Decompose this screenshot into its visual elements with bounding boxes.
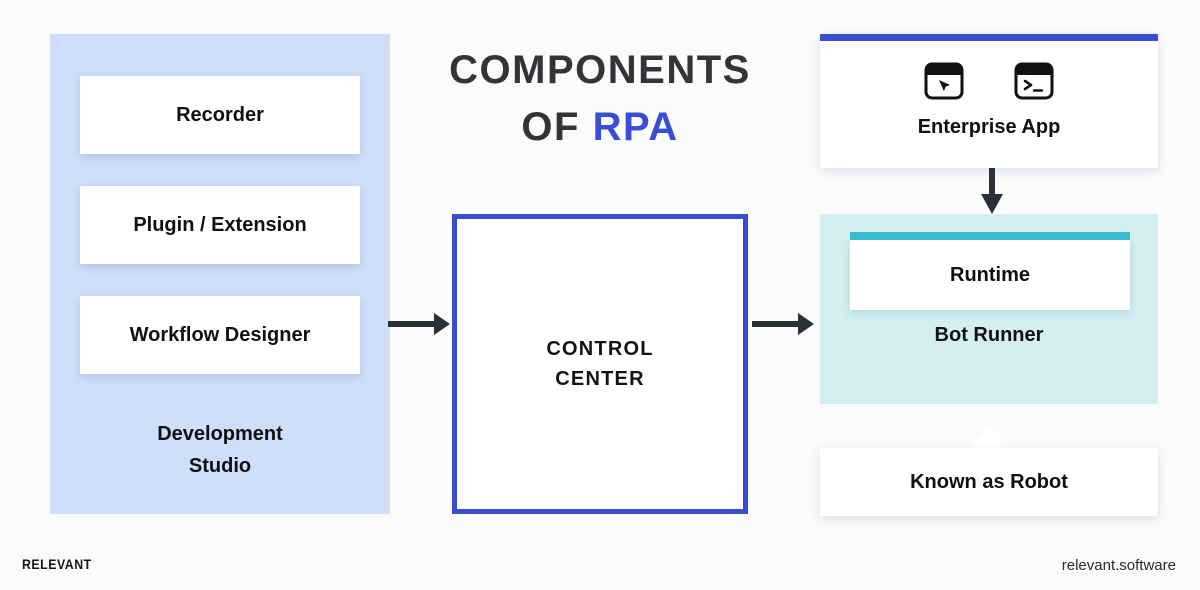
development-studio-caption-line-2: Studio (50, 450, 390, 482)
brand-logo: RELEVANT (22, 556, 92, 572)
website-url: relevant.software (1062, 557, 1176, 574)
enterprise-app-icon-row (820, 62, 1158, 104)
known-as-robot-label: Known as Robot (910, 471, 1068, 494)
development-studio-caption-line-1: Development (50, 418, 390, 450)
control-center-box[interactable]: CONTROL CENTER (452, 214, 748, 514)
arrow-dev-to-control-icon (388, 313, 450, 335)
arrow-head (434, 313, 450, 335)
control-center-text: CONTROL CENTER (546, 334, 653, 394)
arrow-enterprise-to-bot-icon (981, 168, 1003, 214)
arrow-stem (989, 168, 995, 196)
runtime-label: Runtime (950, 264, 1030, 287)
enterprise-app-label: Enterprise App (820, 116, 1158, 139)
dev-box-workflow-designer[interactable]: Workflow Designer (80, 296, 360, 374)
enterprise-app-panel[interactable]: Enterprise App (820, 34, 1158, 168)
arrow-stem (388, 321, 434, 327)
dev-box-workflow-designer-label: Workflow Designer (130, 324, 311, 347)
dev-box-plugin-extension[interactable]: Plugin / Extension (80, 186, 360, 264)
dev-box-recorder[interactable]: Recorder (80, 76, 360, 154)
terminal-window-icon (1012, 62, 1056, 104)
page-title: COMPONENTS OF RPA (400, 42, 800, 156)
control-center-line-2: CENTER (546, 364, 653, 394)
app-window-cursor-icon (922, 62, 966, 104)
bot-runner-panel: Runtime Bot Runner (820, 214, 1158, 404)
bot-runner-caption: Bot Runner (820, 324, 1158, 347)
title-line-2-prefix: OF (521, 105, 592, 149)
known-as-robot-callout[interactable]: Known as Robot (820, 448, 1158, 516)
diagram-canvas: COMPONENTS OF RPA Recorder Plugin / Exte… (0, 0, 1200, 590)
development-studio-caption: Development Studio (50, 418, 390, 482)
arrow-head (798, 313, 814, 335)
enterprise-app-accent-bar (820, 34, 1158, 41)
dev-box-recorder-label: Recorder (176, 104, 264, 127)
arrow-stem (752, 321, 798, 327)
arrow-head (981, 194, 1003, 214)
callout-notch-icon (969, 427, 1011, 448)
arrow-control-to-bot-icon (752, 313, 814, 335)
title-line-1: COMPONENTS (449, 48, 751, 92)
runtime-box[interactable]: Runtime (850, 240, 1130, 310)
control-center-line-1: CONTROL (546, 334, 653, 364)
title-line-2-accent: RPA (593, 105, 679, 149)
dev-box-plugin-extension-label: Plugin / Extension (133, 214, 306, 237)
